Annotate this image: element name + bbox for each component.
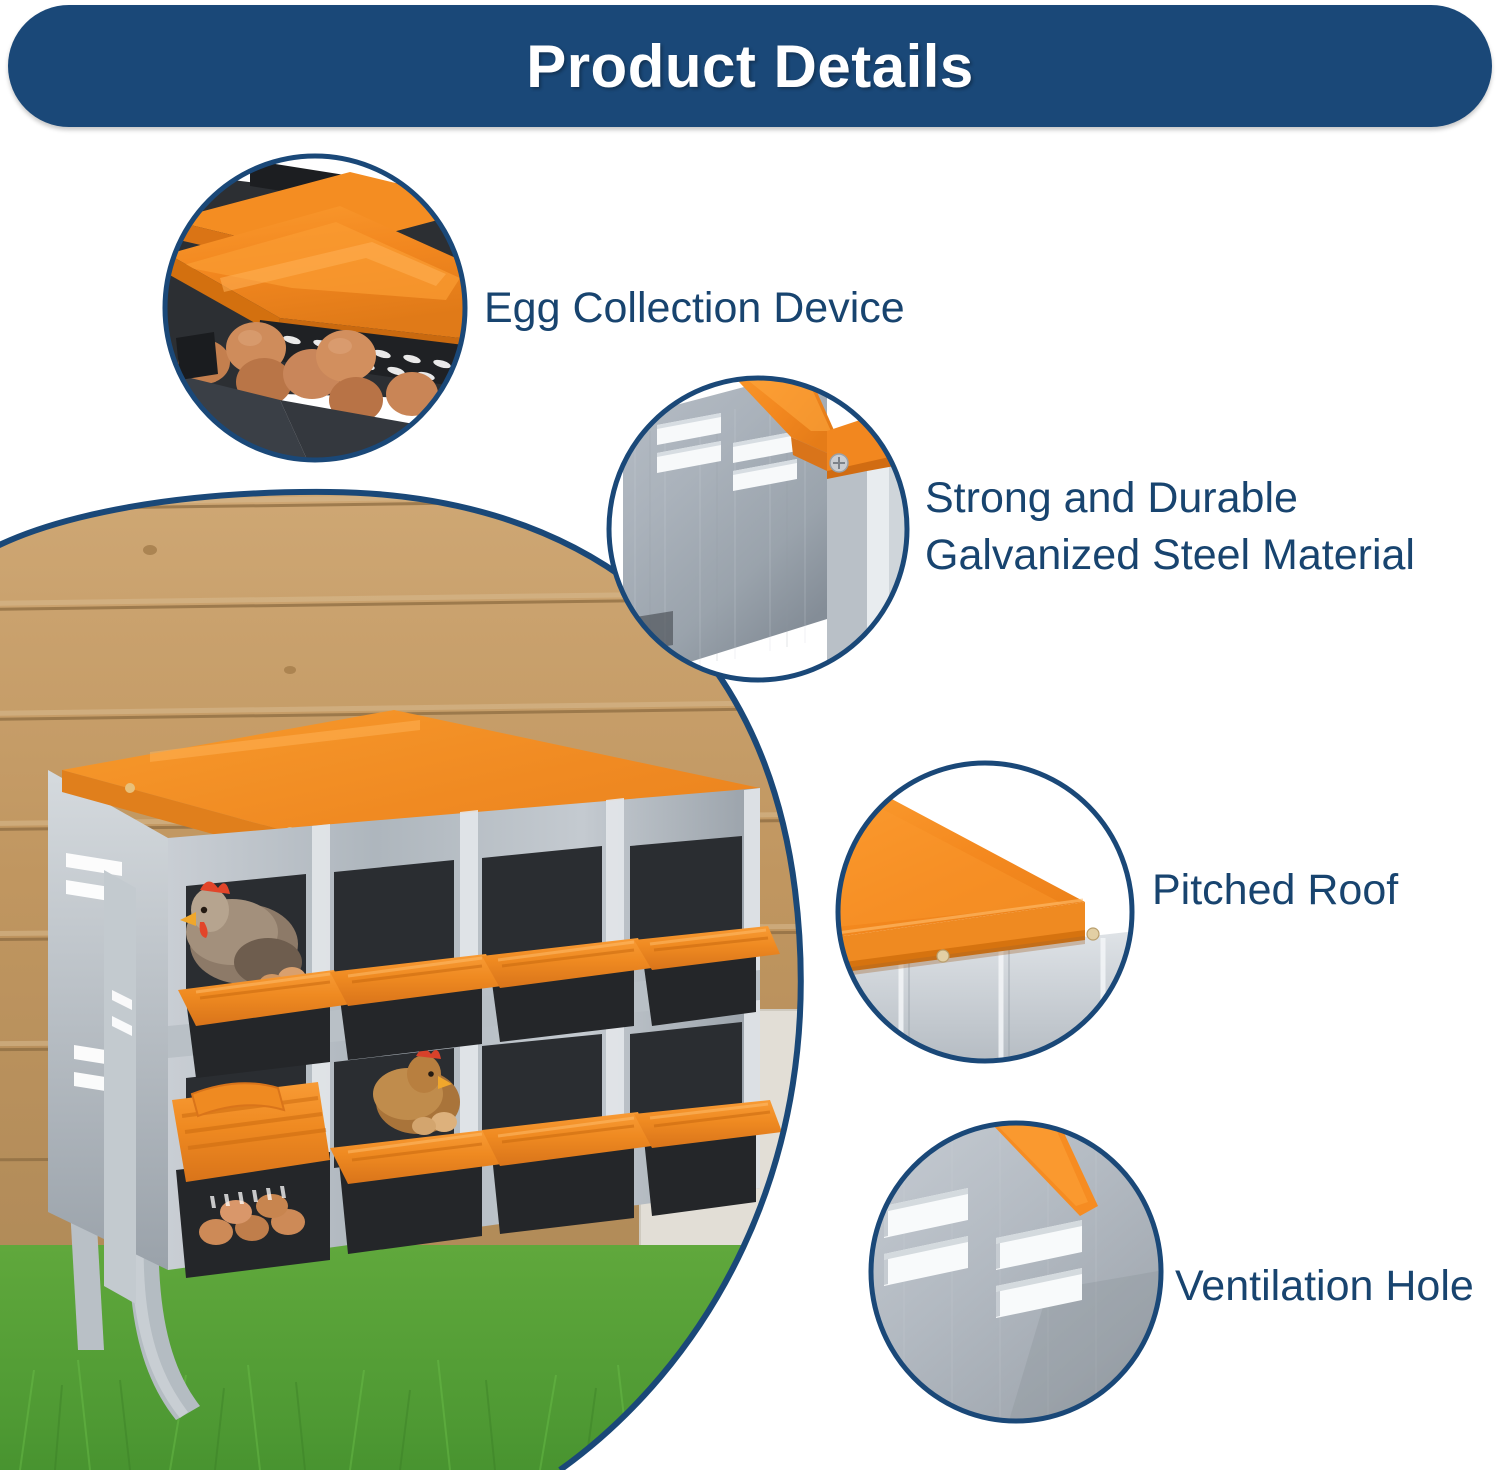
callout-label-galvanized-steel: Strong and Durable Galvanized Steel Mate…: [925, 470, 1415, 584]
callout-image-galvanized-steel: [605, 375, 911, 683]
callout-label-ventilation-hole: Ventilation Hole: [1175, 1258, 1474, 1315]
callout-label-egg-collection: Egg Collection Device: [484, 280, 905, 337]
page-title: Product Details: [526, 32, 974, 101]
callout-image-ventilation-hole: [868, 1120, 1164, 1424]
callout-image-pitched-roof: [835, 760, 1135, 1064]
callout-image-egg-collection: [160, 150, 470, 466]
header-banner: Product Details: [8, 5, 1492, 127]
infographic-page: Product Details: [0, 0, 1500, 1470]
callout-label-pitched-roof: Pitched Roof: [1152, 862, 1398, 919]
roof-screw: [830, 454, 848, 472]
